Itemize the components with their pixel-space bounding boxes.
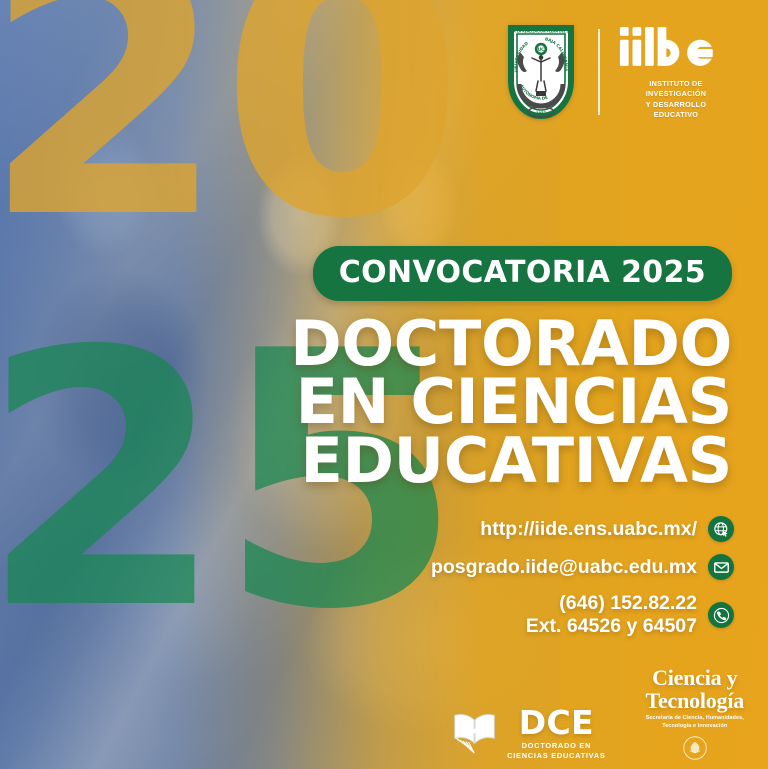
globe-icon (708, 516, 734, 542)
envelope-icon (708, 554, 734, 580)
contact-row-website[interactable]: http://iide.ens.uabc.mx/ (304, 516, 734, 542)
dce-logo: DCE DOCTORADO EN CIENCIAS EDUCATIVAS (450, 706, 605, 761)
email-address[interactable]: posgrado.iide@uabc.edu.mx (431, 556, 697, 579)
phone-icon (708, 602, 734, 628)
contact-list: http://iide.ens.uabc.mx/ posgrado.iide@u… (304, 516, 734, 650)
convocatoria-poster: 20 25 POR LA REALIZACIÓN PLENA DEL SER U… (0, 0, 768, 769)
contact-row-phone[interactable]: (646) 152.82.22 Ext. 64526 y 64507 (304, 592, 734, 638)
website-url[interactable]: http://iide.ens.uabc.mx/ (480, 518, 697, 541)
year-numeral-20: 20 (0, 0, 458, 229)
iide-wordmark-icon (618, 24, 734, 74)
open-book-icon (450, 708, 500, 759)
footer-logos: DCE DOCTORADO EN CIENCIAS EDUCATIVAS Cie… (450, 667, 744, 761)
header-logos: POR LA REALIZACIÓN PLENA DEL SER UC UNIV… (502, 22, 734, 122)
svg-text:POR LA REALIZACIÓN PLENA DEL S: POR LA REALIZACIÓN PLENA DEL SER (508, 28, 574, 33)
svg-text:1957: 1957 (536, 111, 547, 115)
headline-line-2: EN CIENCIAS (272, 373, 732, 431)
svg-text:UC: UC (538, 47, 545, 53)
ciencia-subtitle: Secretaría de Ciencia, Humanidades, Tecn… (646, 715, 744, 731)
ciencia-line-1: Ciencia y (652, 667, 737, 689)
convocatoria-badge: CONVOCATORIA 2025 (313, 246, 732, 301)
iide-subtitle: INSTITUTO DE INVESTIGACIÓN Y DESARROLLO … (646, 79, 706, 120)
main-text-block: CONVOCATORIA 2025 DOCTORADO EN CIENCIAS … (272, 246, 732, 490)
page-title: DOCTORADO EN CIENCIAS EDUCATIVAS (272, 315, 732, 490)
ciencia-line-2: Tecnología (646, 690, 744, 712)
dce-subtitle: DOCTORADO EN CIENCIAS EDUCATIVAS (507, 741, 605, 761)
dce-text: DCE DOCTORADO EN CIENCIAS EDUCATIVAS (507, 706, 605, 761)
ciencia-tecnologia-logo: Ciencia y Tecnología Secretaría de Cienc… (646, 667, 744, 761)
uabc-shield-logo: POR LA REALIZACIÓN PLENA DEL SER UC UNIV… (502, 22, 580, 122)
iide-logo: INSTITUTO DE INVESTIGACIÓN Y DESARROLLO … (618, 24, 734, 120)
mexican-eagle-seal-icon (682, 735, 708, 761)
headline-line-3: EDUCATIVAS (272, 432, 732, 490)
contact-row-email[interactable]: posgrado.iide@uabc.edu.mx (304, 554, 734, 580)
dce-acronym: DCE (519, 706, 594, 739)
phone-number[interactable]: (646) 152.82.22 Ext. 64526 y 64507 (526, 592, 697, 638)
logo-divider (598, 29, 600, 115)
